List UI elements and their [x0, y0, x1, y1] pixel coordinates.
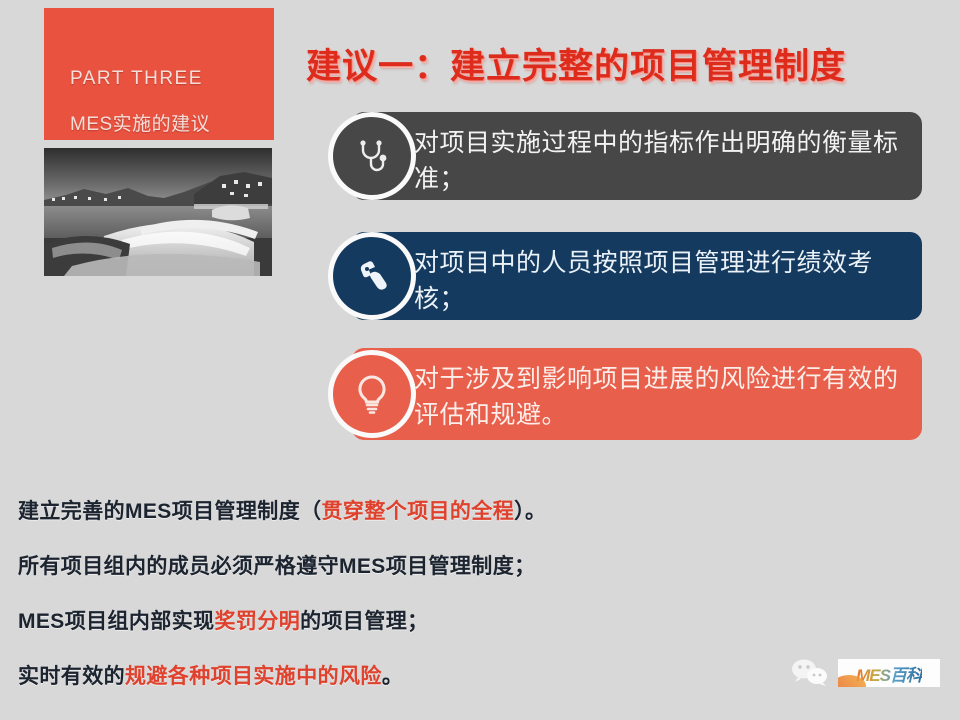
note-line-3: MES项目组内部实现奖罚分明的项目管理； — [18, 605, 718, 635]
note-3-post: 的项目管理； — [300, 610, 428, 633]
notes-block: 建立完善的MES项目管理制度（贯穿整个项目的全程）。 所有项目组内的成员必须严格… — [18, 495, 718, 715]
lightbulb-icon — [328, 350, 416, 438]
page-title: 建议一：建立完整的项目管理制度 — [306, 38, 846, 89]
boats-photo-graphic — [44, 148, 272, 276]
note-1-pre: 建立完善的MES项目管理制度（ — [18, 500, 322, 523]
note-line-1: 建立完善的MES项目管理制度（贯穿整个项目的全程）。 — [18, 495, 718, 525]
bullet-text-2: 对项目中的人员按照项目管理进行绩效考核； — [414, 246, 904, 317]
bullet-text-1: 对项目实施过程中的指标作出明确的衡量标准； — [414, 126, 904, 197]
note-4-pre: 实时有效的 — [18, 665, 125, 688]
whistle-icon — [328, 232, 416, 320]
note-line-2: 所有项目组内的成员必须严格遵守MES项目管理制度； — [18, 550, 718, 580]
bullet-text-3: 对于涉及到影响项目进展的风险进行有效的评估和规避。 — [414, 362, 904, 433]
note-2-pre: 所有项目组内的成员必须严格遵守MES项目管理制度； — [18, 555, 536, 578]
note-1-post: ）。 — [514, 500, 546, 523]
brand-logo: MES百科 — [838, 659, 940, 687]
part-card: PART THREE MES实施的建议 — [44, 8, 274, 140]
bullet-bar-3: 对于涉及到影响项目进展的风险进行有效的评估和规避。 — [352, 348, 922, 440]
note-3-highlight: 奖罚分明 — [215, 610, 301, 633]
slide-canvas: PART THREE MES实施的建议 — [0, 0, 960, 720]
brand-watermark: MES百科 — [790, 658, 940, 688]
wechat-icon — [790, 658, 830, 688]
stethoscope-icon — [328, 112, 416, 200]
part-card-label: PART THREE — [70, 68, 203, 90]
part-photo — [44, 148, 272, 276]
note-line-4: 实时有效的规避各种项目实施中的风险。 — [18, 660, 718, 690]
part-card-subtitle: MES实施的建议 — [70, 109, 210, 136]
note-4-highlight: 规避各种项目实施中的风险 — [125, 665, 382, 688]
note-3-pre: MES项目组内部实现 — [18, 610, 215, 633]
brand-logo-text: MES百科 — [856, 661, 922, 686]
bullet-bar-2: 对项目中的人员按照项目管理进行绩效考核； — [352, 232, 922, 320]
note-4-post: 。 — [382, 665, 403, 688]
bullet-bar-1: 对项目实施过程中的指标作出明确的衡量标准； — [352, 112, 922, 200]
note-1-highlight: 贯穿整个项目的全程 — [322, 500, 515, 523]
